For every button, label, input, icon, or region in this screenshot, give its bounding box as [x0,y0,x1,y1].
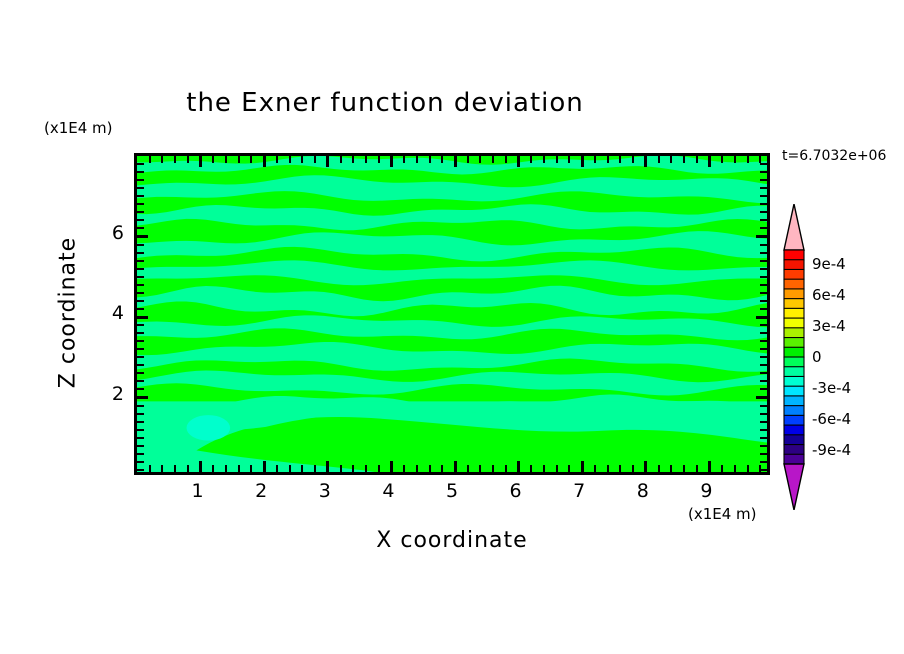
contour-field [137,156,767,472]
x-axis-tick [174,465,176,472]
y-axis-tick [760,372,767,374]
x-axis-tick [301,156,303,163]
x-axis-tick [505,156,507,163]
x-axis-tick [378,156,380,163]
figure-canvas: the Exner function deviation (x1E4 m) (x… [0,0,904,654]
y-axis-tick [760,163,767,165]
x-axis-tick [390,461,393,472]
y-axis-tick [137,268,144,270]
x-axis-tick [276,156,278,163]
y-axis-tick [137,461,144,463]
y-axis-tick [137,437,144,439]
x-axis-tick [340,465,342,472]
y-axis-tick [137,332,144,334]
x-axis-tick [225,156,227,163]
y-axis-tick [137,276,144,278]
x-axis-tick [225,465,227,472]
y-axis-tick [760,364,767,366]
x-axis-tick [479,465,481,472]
y-axis-tick [137,405,144,407]
x-axis-tick [670,156,672,163]
y-axis-tick [137,469,144,471]
x-axis-tick [187,465,189,472]
y-axis-tick [760,340,767,342]
y-axis-tick [137,179,144,181]
x-axis-tick [467,465,469,472]
x-tick-label: 3 [310,480,340,502]
y-axis-tick [760,260,767,262]
x-axis-tick [250,465,252,472]
x-axis-tick [492,465,494,472]
x-axis-tick [568,465,570,472]
x-axis-tick [390,156,393,167]
y-axis-tick [137,195,144,197]
y-axis-tick [760,211,767,213]
y-axis-tick [760,195,767,197]
x-axis-tick [199,156,202,167]
y-axis-tick [137,203,144,205]
x-axis-tick [530,465,532,472]
colorbar-tick-label: 9e-4 [812,255,846,273]
x-tick-label: 2 [246,480,276,502]
x-axis-tick [632,465,634,472]
z-axis-units-label: (x1E4 m) [44,119,113,137]
colorbar-tick-label: -9e-4 [812,441,851,459]
x-axis-tick [238,465,240,472]
x-axis-tick [289,465,291,472]
x-tick-label: 6 [501,480,531,502]
colorbar-tick-label: -6e-4 [812,410,851,428]
y-axis-tick [760,437,767,439]
x-axis-tick [568,156,570,163]
y-axis-tick [760,252,767,254]
x-tick-label: 7 [564,480,594,502]
x-axis-tick [721,156,723,163]
x-axis-tick [644,156,647,167]
y-axis-tick [137,292,144,294]
y-axis-tick [760,219,767,221]
x-tick-label: 4 [373,480,403,502]
x-axis-tick [441,156,443,163]
y-axis-tick [760,380,767,382]
y-axis-title: Z coordinate [56,213,81,413]
y-axis-tick [756,316,767,319]
y-axis-tick [760,292,767,294]
x-axis-tick [619,465,621,472]
x-axis-tick [467,156,469,163]
x-axis-tick [149,156,151,163]
y-axis-tick [760,461,767,463]
y-axis-tick [760,187,767,189]
x-axis-tick [187,156,189,163]
y-axis-tick [137,429,144,431]
x-axis-tick [505,465,507,472]
y-axis-tick [760,244,767,246]
x-axis-tick [441,465,443,472]
page-title: the Exner function deviation [0,88,770,118]
x-axis-tick [238,156,240,163]
y-axis-tick [137,348,144,350]
y-axis-tick [137,235,148,238]
y-axis-tick [137,445,144,447]
x-axis-tick [581,461,584,472]
x-tick-label: 1 [183,480,213,502]
x-axis-tick [378,465,380,472]
colorbar-tick-label: 6e-4 [812,286,846,304]
y-axis-tick [760,405,767,407]
y-axis-tick [137,284,144,286]
time-annotation: t=6.7032e+06 [782,148,886,164]
y-axis-tick [760,227,767,229]
x-axis-tick [352,156,354,163]
y-axis-tick [137,187,144,189]
y-axis-tick [760,429,767,431]
x-axis-tick [721,465,723,472]
y-axis-tick [137,308,144,310]
y-tick-label: 4 [96,302,124,324]
x-axis-tick [530,156,532,163]
x-axis-tick [326,461,329,472]
x-tick-label: 8 [628,480,658,502]
x-axis-tick [429,465,431,472]
x-axis-tick [479,156,481,163]
x-axis-tick [416,465,418,472]
x-axis-tick [326,156,329,167]
x-axis-tick [708,461,711,472]
y-axis-tick [137,163,144,165]
y-axis-tick [137,372,144,374]
y-axis-tick [760,300,767,302]
x-axis-tick [314,465,316,472]
x-axis-tick [212,465,214,472]
x-axis-tick [365,156,367,163]
x-axis-tick [301,465,303,472]
y-axis-tick [137,316,148,319]
y-axis-tick [760,179,767,181]
x-axis-tick [594,156,596,163]
y-axis-tick [760,203,767,205]
x-axis-tick [174,156,176,163]
x-axis-tick [734,156,736,163]
x-axis-tick [607,465,609,472]
y-axis-tick [137,171,144,173]
y-axis-tick [137,396,148,399]
x-axis-units-label: (x1E4 m) [688,505,757,523]
y-axis-tick [756,235,767,238]
x-axis-tick [212,156,214,163]
y-axis-tick [137,211,144,213]
y-axis-tick [137,380,144,382]
y-axis-tick [137,453,144,455]
y-axis-tick [760,413,767,415]
y-axis-tick [137,340,144,342]
x-axis-tick [517,156,520,167]
x-axis-tick [263,156,266,167]
y-axis-tick [756,396,767,399]
y-tick-label: 2 [96,383,124,405]
y-axis-tick [137,324,144,326]
y-axis-tick [760,284,767,286]
y-axis-tick [760,348,767,350]
x-axis-tick [658,465,660,472]
x-axis-tick [199,461,202,472]
y-axis-tick [137,300,144,302]
x-axis-tick [747,156,749,163]
x-axis-tick [747,465,749,472]
y-axis-tick [137,356,144,358]
x-axis-tick [352,465,354,472]
colorbar-tick-label: -3e-4 [812,379,851,397]
y-axis-tick [760,171,767,173]
x-axis-tick [403,465,405,472]
x-axis-tick [556,156,558,163]
x-axis-tick [556,465,558,472]
x-axis-tick [314,156,316,163]
y-axis-tick [760,388,767,390]
x-axis-tick [670,465,672,472]
x-axis-tick [454,461,457,472]
colorbar-tick-label: 3e-4 [812,317,846,335]
x-axis-tick [289,156,291,163]
x-axis-tick [340,156,342,163]
x-axis-tick [416,156,418,163]
x-axis-tick [543,156,545,163]
x-axis-tick [734,465,736,472]
y-axis-tick [760,421,767,423]
y-axis-tick [760,276,767,278]
x-axis-title: X coordinate [134,528,770,553]
colorbar [782,204,806,510]
x-axis-tick [492,156,494,163]
y-axis-tick [137,388,144,390]
x-axis-tick [161,156,163,163]
x-axis-tick [250,156,252,163]
y-axis-tick [137,413,144,415]
y-axis-tick [137,227,144,229]
y-axis-tick [760,268,767,270]
x-axis-tick [658,156,660,163]
x-axis-tick [644,461,647,472]
x-axis-tick [429,156,431,163]
x-axis-tick [683,465,685,472]
x-axis-tick [708,156,711,167]
x-axis-tick [543,465,545,472]
x-axis-tick [149,465,151,472]
x-axis-tick [696,465,698,472]
x-axis-tick [759,156,761,163]
x-axis-tick [365,465,367,472]
y-axis-tick [760,469,767,471]
x-axis-tick [594,465,596,472]
x-tick-label: 9 [691,480,721,502]
y-axis-tick [137,244,144,246]
x-tick-label: 5 [437,480,467,502]
x-axis-tick [696,156,698,163]
x-axis-tick [276,465,278,472]
y-axis-tick [760,445,767,447]
y-axis-tick [137,219,144,221]
x-axis-tick [581,156,584,167]
x-axis-tick [263,461,266,472]
y-axis-tick [760,308,767,310]
x-axis-tick [632,156,634,163]
y-axis-tick [760,453,767,455]
x-axis-tick [403,156,405,163]
contour-plot-area [134,153,770,475]
y-axis-tick [137,364,144,366]
y-axis-tick [137,421,144,423]
x-axis-tick [161,465,163,472]
y-axis-tick [137,252,144,254]
y-axis-tick [137,260,144,262]
colorbar-tick-label: 0 [812,348,822,366]
x-axis-tick [454,156,457,167]
x-axis-tick [607,156,609,163]
y-axis-tick [760,324,767,326]
y-axis-tick [760,332,767,334]
x-axis-tick [517,461,520,472]
x-axis-tick [683,156,685,163]
x-axis-tick [619,156,621,163]
y-axis-tick [760,356,767,358]
y-tick-label: 6 [96,222,124,244]
